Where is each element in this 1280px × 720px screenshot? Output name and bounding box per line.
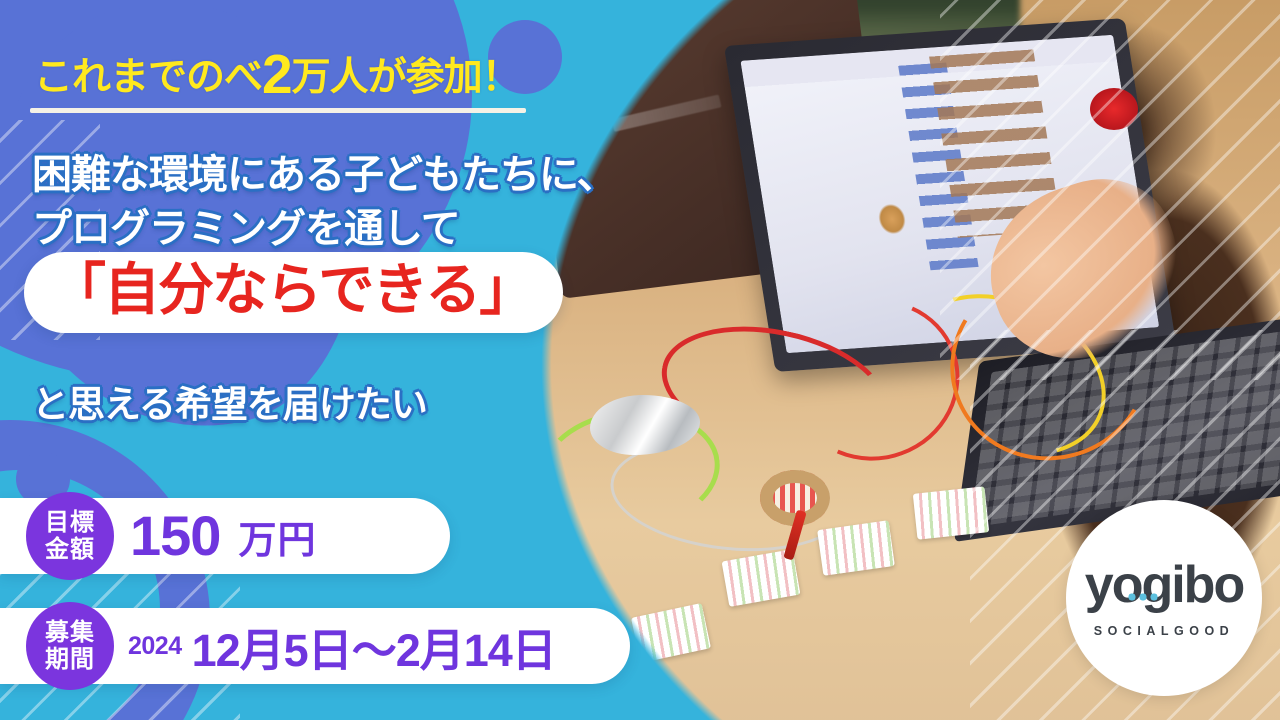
kicker-number: 2 [262, 43, 292, 105]
period-badge-line-1: 募集 [45, 619, 95, 646]
goal-badge: 目標 金額 [26, 492, 114, 580]
yogibo-squiggle-icon [1126, 590, 1159, 604]
headline-line-1: 困難な環境にある子どもたちに、 [32, 142, 616, 200]
kicker-prefix: これまでのべ [34, 56, 262, 99]
yogibo-logo: yogibo SOCIALGOOD [1066, 500, 1262, 696]
kicker-underline [30, 108, 526, 113]
goal-amount-row: 目標 金額 150 万円 [0, 498, 450, 574]
headline-emphasis-pill: 「自分ならできる」 [24, 252, 563, 333]
yogibo-wordmark-text: yogibo [1085, 556, 1243, 614]
goal-amount-value: 150 [130, 508, 220, 564]
period-row: 募集 期間 2024 12月5日〜2月14日 [0, 608, 630, 684]
kicker-text: これまでのべ2万人が参加！ [34, 46, 520, 102]
goal-amount-bar: 目標 金額 150 万円 [0, 498, 450, 574]
headline-line-2: プログラミングを通して [32, 196, 460, 254]
period-badge: 募集 期間 [26, 602, 114, 690]
kicker-suffix: 万人が参加！ [292, 56, 520, 99]
period-range: 12月5日〜2月14日 [192, 614, 556, 679]
period-year: 2024 [128, 632, 182, 661]
promo-banner: これまでのべ2万人が参加！ 困難な環境にある子どもたちに、 プログラミングを通し… [0, 0, 1280, 720]
goal-badge-line-1: 目標 [45, 509, 95, 536]
yogibo-tagline: SOCIALGOOD [1094, 624, 1234, 638]
period-badge-line-2: 期間 [45, 646, 95, 673]
headline-line-3: と思える希望を届けたい [32, 374, 427, 428]
yogibo-wordmark: yogibo [1085, 559, 1243, 611]
goal-badge-line-2: 金額 [45, 536, 95, 563]
headline-emphasis-text: 「自分ならできる」 [50, 261, 533, 320]
goal-amount-unit: 万円 [238, 509, 316, 564]
period-bar: 募集 期間 2024 12月5日〜2月14日 [0, 608, 630, 684]
